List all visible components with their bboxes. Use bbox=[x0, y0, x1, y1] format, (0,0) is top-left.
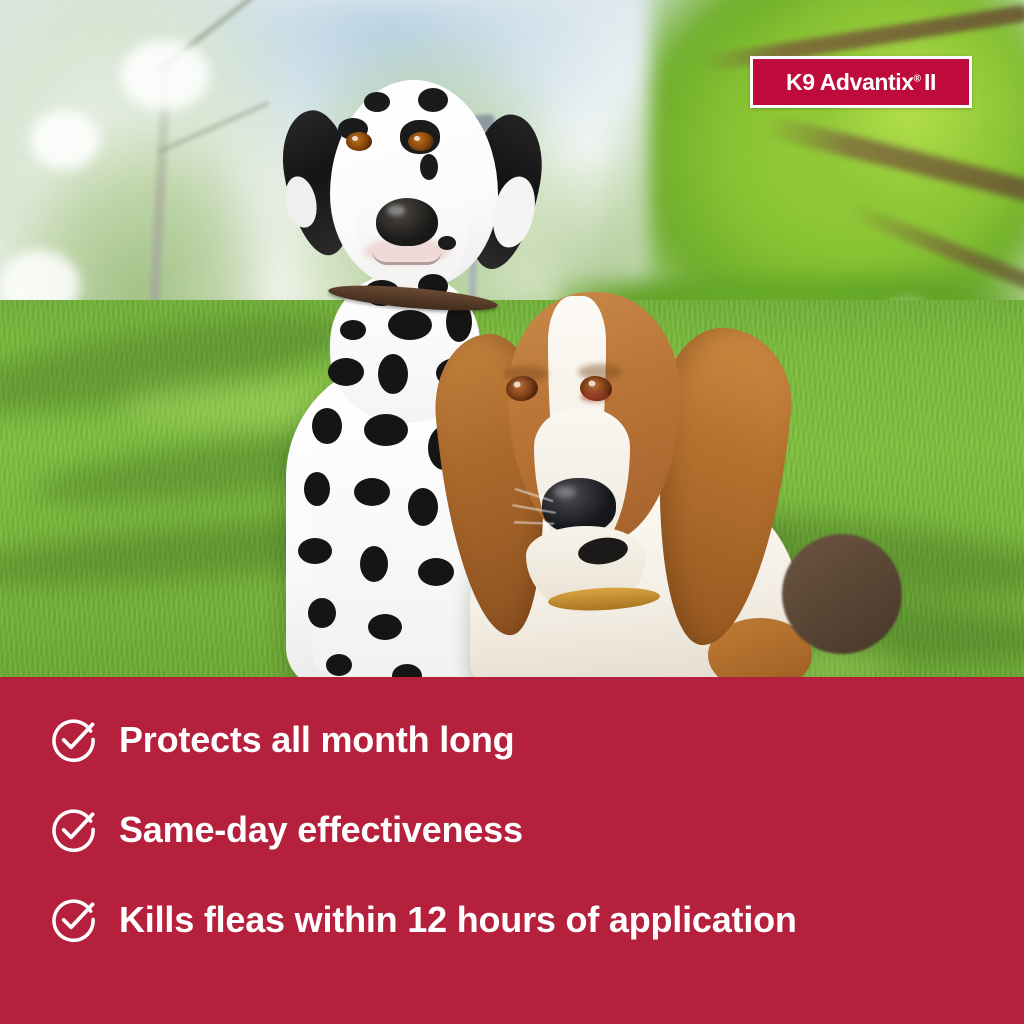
dalmatian-spot bbox=[360, 546, 388, 582]
basset-eye-rim bbox=[580, 392, 610, 402]
dalmatian-spot bbox=[326, 654, 352, 676]
benefit-item: Protects all month long bbox=[50, 716, 514, 763]
dalmatian-eye-left bbox=[346, 132, 372, 151]
blossom-cluster bbox=[30, 110, 100, 170]
brand-logo-badge[interactable]: K9 Advantix®II bbox=[750, 56, 972, 108]
dalmatian-spot bbox=[388, 310, 432, 340]
benefit-label: Same-day effectiveness bbox=[119, 812, 523, 848]
dalmatian-spot bbox=[364, 414, 408, 446]
dalmatian-spot bbox=[308, 598, 336, 628]
dalmatian-nose bbox=[376, 198, 438, 246]
brand-logo-text: K9 Advantix®II bbox=[786, 71, 936, 94]
dalmatian-eye-right bbox=[408, 132, 434, 151]
product-ad-banner: K9 Advantix®II Protects all month long S… bbox=[0, 0, 1024, 1024]
dalmatian-spot bbox=[420, 154, 438, 180]
dalmatian-spot bbox=[304, 472, 330, 506]
benefit-label: Kills fleas within 12 hours of applicati… bbox=[119, 902, 797, 938]
dalmatian-spot bbox=[312, 408, 342, 444]
brand-name: K9 Advantix bbox=[786, 69, 914, 95]
dalmatian-spot bbox=[354, 478, 390, 506]
basset-hound-dog bbox=[430, 288, 900, 677]
benefit-item: Same-day effectiveness bbox=[50, 806, 523, 853]
dalmatian-spot bbox=[378, 354, 408, 394]
dalmatian-nose-highlight bbox=[387, 205, 405, 216]
dalmatian-spot bbox=[438, 236, 456, 250]
benefit-label: Protects all month long bbox=[119, 722, 514, 758]
blossom-cluster bbox=[120, 40, 210, 110]
dalmatian-spot bbox=[298, 538, 332, 564]
registered-trademark-icon: ® bbox=[914, 73, 921, 84]
dalmatian-spot bbox=[328, 358, 364, 386]
basset-nose-highlight bbox=[554, 486, 576, 498]
dalmatian-spot bbox=[418, 88, 448, 112]
dalmatian-spot bbox=[364, 92, 390, 112]
dalmatian-mouth bbox=[372, 250, 442, 265]
brand-suffix: II bbox=[924, 69, 936, 95]
dalmatian-spot bbox=[368, 614, 402, 640]
benefit-item: Kills fleas within 12 hours of applicati… bbox=[50, 896, 797, 943]
check-circle-icon bbox=[50, 716, 97, 763]
dalmatian-spot bbox=[340, 320, 366, 340]
check-circle-icon bbox=[50, 896, 97, 943]
check-circle-icon bbox=[50, 806, 97, 853]
